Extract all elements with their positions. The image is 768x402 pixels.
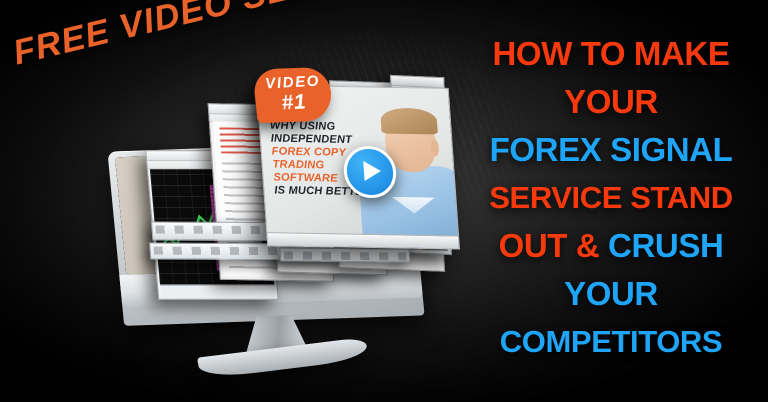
video-number-badge: VIDEO #1 — [252, 67, 334, 123]
headline-line-1: HOW TO MAKE — [458, 30, 764, 78]
presenter-hair — [380, 108, 437, 135]
presenter-ear — [430, 140, 439, 156]
video-card-footer — [267, 232, 459, 248]
toolbar-items — [284, 251, 407, 260]
presenter-collar — [392, 197, 436, 214]
headline: HOW TO MAKE YOUR FOREX SIGNAL SERVICE ST… — [458, 30, 764, 366]
headline-line-6: YOUR — [458, 270, 764, 318]
headline-line-7: COMPETITORS — [458, 318, 764, 366]
headline-line-2: YOUR — [458, 78, 764, 126]
badge-number: #1 — [262, 90, 327, 116]
headline-line-5b: CRUSH — [608, 227, 723, 264]
panel-statusbar — [160, 285, 276, 298]
panel-toolbar-strip — [279, 247, 410, 262]
headline-line-5: OUT & CRUSH — [458, 222, 764, 270]
play-triangle-icon — [363, 161, 381, 181]
promo-banner: FREE VIDEO SERIES — [0, 0, 768, 402]
headline-line-3: FOREX SIGNAL — [458, 126, 764, 174]
headline-line-5a: OUT & — [499, 227, 600, 264]
headline-line-4: SERVICE STAND — [458, 174, 764, 222]
